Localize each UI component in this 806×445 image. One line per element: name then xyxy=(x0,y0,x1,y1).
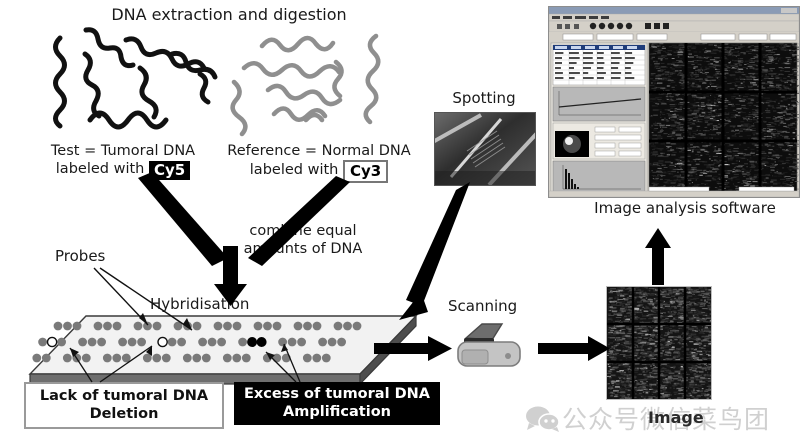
amplification-line2: Amplification xyxy=(283,404,391,420)
wechat-icon xyxy=(524,404,560,432)
heading-hybridisation: Hybridisation xyxy=(150,296,249,313)
test-line2-prefix: labeled with xyxy=(56,161,149,177)
test-line1: Test = Tumoral DNA xyxy=(51,143,195,159)
reference-dna-strands xyxy=(228,24,404,142)
scanner-icon xyxy=(452,316,526,372)
deletion-line2: Deletion xyxy=(90,406,159,422)
reference-line1: Reference = Normal DNA xyxy=(227,143,410,159)
amplification-line1: Excess of tumoral DNA xyxy=(244,386,430,402)
callout-amplification: Excess of tumoral DNA Amplification xyxy=(234,382,440,425)
combine-dna-note: combine equalamounts of DNA xyxy=(238,222,368,258)
figure-canvas: DNA extraction and digestion Test = T xyxy=(0,0,806,445)
heading-dna-extraction: DNA extraction and digestion xyxy=(84,6,374,24)
image-analysis-software-screenshot xyxy=(548,6,800,198)
callout-deletion: Lack of tumoral DNA Deletion xyxy=(24,382,224,429)
heading-scanning: Scanning xyxy=(448,298,517,315)
cy5-badge: Cy5 xyxy=(149,161,190,180)
label-probes: Probes xyxy=(55,248,105,265)
watermark-overlay-label: Image xyxy=(648,408,704,427)
test-sample-label: Test = Tumoral DNA labeled with Cy5 xyxy=(28,142,218,180)
heading-spotting: Spotting xyxy=(432,90,536,107)
spotting-photo xyxy=(434,112,536,186)
reference-line2-prefix: labeled with xyxy=(250,162,343,178)
test-dna-strands xyxy=(52,24,232,142)
reference-sample-label: Reference = Normal DNA labeled with Cy3 xyxy=(222,142,416,183)
cy3-badge: Cy3 xyxy=(343,160,388,183)
scanned-array-image xyxy=(606,286,712,400)
deletion-line1: Lack of tumoral DNA xyxy=(40,388,208,404)
heading-image-analysis-software: Image analysis software xyxy=(570,200,800,217)
